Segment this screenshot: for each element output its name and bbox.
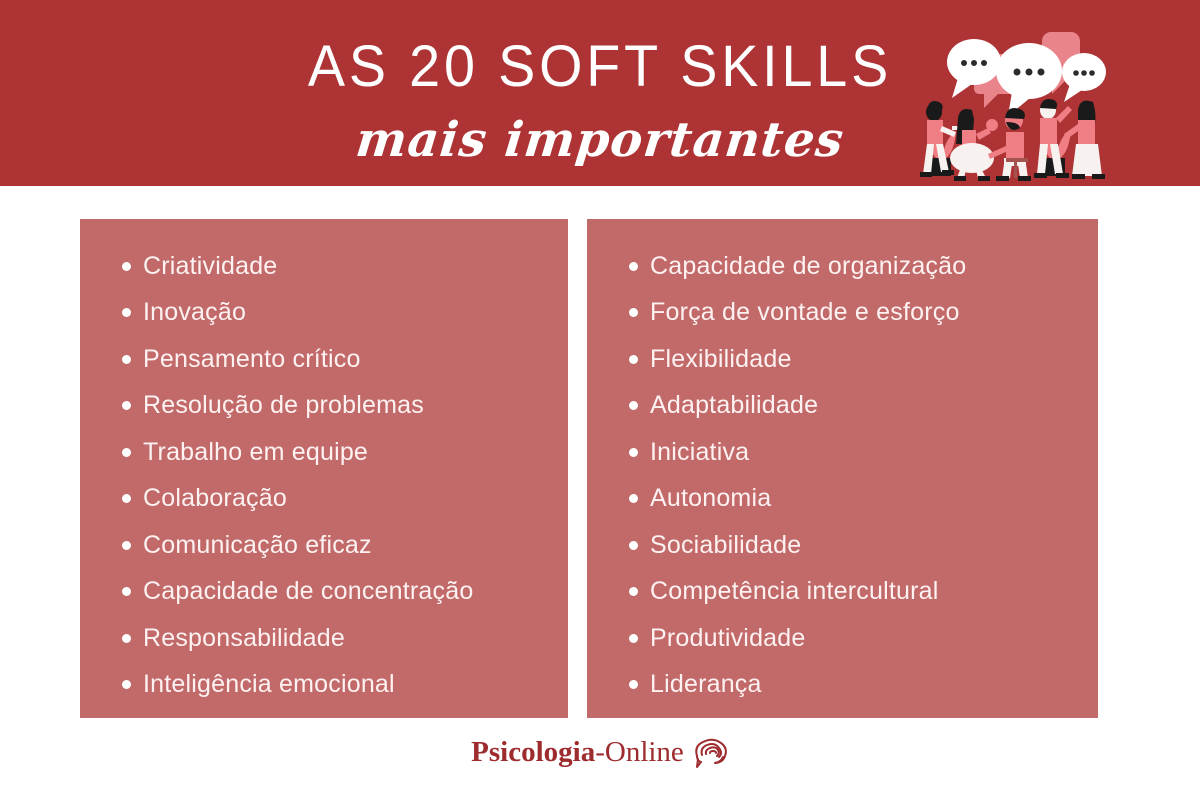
list-item-label: Produtividade	[650, 624, 805, 653]
bullet-icon	[629, 494, 638, 503]
bullet-icon	[629, 634, 638, 643]
list-item: Autonomia	[629, 476, 966, 523]
bullet-icon	[629, 308, 638, 317]
list-item: Capacidade de concentração	[122, 569, 473, 616]
person-figure	[1064, 101, 1105, 179]
list-item: Força de vontade e esforço	[629, 290, 966, 337]
list-item: Capacidade de organização	[629, 243, 966, 290]
list-item: Comunicação eficaz	[122, 522, 473, 569]
brand-logo[interactable]: Psicologia-Online	[471, 736, 729, 774]
header-illustration	[918, 18, 1110, 186]
bullet-icon	[629, 355, 638, 364]
list-item-label: Trabalho em equipe	[143, 438, 368, 467]
skills-list-right: Capacidade de organização Força de vonta…	[629, 243, 966, 708]
list-item: Pensamento crítico	[122, 336, 473, 383]
list-item: Criatividade	[122, 243, 473, 290]
bullet-icon	[629, 262, 638, 271]
bullet-icon	[629, 401, 638, 410]
list-item: Inteligência emocional	[122, 662, 473, 709]
list-item: Competência intercultural	[629, 569, 966, 616]
list-item-label: Força de vontade e esforço	[650, 298, 960, 327]
list-item: Colaboração	[122, 476, 473, 523]
bullet-icon	[122, 634, 131, 643]
list-item-label: Autonomia	[650, 484, 771, 513]
bullet-icon	[629, 587, 638, 596]
list-item: Sociabilidade	[629, 522, 966, 569]
bullet-icon	[629, 680, 638, 689]
brain-icon	[691, 736, 729, 774]
header-banner: AS 20 SOFT SKILLS mais importantes	[0, 0, 1200, 186]
list-item-label: Pensamento crítico	[143, 345, 361, 374]
skills-panel-left: Criatividade Inovação Pensamento crítico…	[80, 219, 568, 718]
list-item-label: Adaptabilidade	[650, 391, 818, 420]
footer: Psicologia-Online	[0, 730, 1200, 780]
list-item: Produtividade	[629, 615, 966, 662]
list-item: Inovação	[122, 290, 473, 337]
list-item-label: Resolução de problemas	[143, 391, 424, 420]
bullet-icon	[122, 355, 131, 364]
list-item: Iniciativa	[629, 429, 966, 476]
bullet-icon	[122, 262, 131, 271]
person-figure	[950, 109, 998, 181]
bullet-icon	[122, 541, 131, 550]
list-item-label: Sociabilidade	[650, 531, 801, 560]
list-item: Adaptabilidade	[629, 383, 966, 430]
list-item-label: Colaboração	[143, 484, 287, 513]
skills-list-left: Criatividade Inovação Pensamento crítico…	[122, 243, 473, 708]
bullet-icon	[629, 541, 638, 550]
list-item-label: Responsabilidade	[143, 624, 345, 653]
list-item: Responsabilidade	[122, 615, 473, 662]
brand-name-bold: Psicologia	[471, 736, 595, 768]
person-figure	[988, 108, 1031, 181]
list-item: Flexibilidade	[629, 336, 966, 383]
bullet-icon	[122, 308, 131, 317]
bullet-icon	[629, 448, 638, 457]
list-item: Trabalho em equipe	[122, 429, 473, 476]
bullet-icon	[122, 448, 131, 457]
list-item: Liderança	[629, 662, 966, 709]
list-item-label: Flexibilidade	[650, 345, 792, 374]
list-item-label: Liderança	[650, 670, 762, 699]
list-item-label: Capacidade de concentração	[143, 577, 473, 606]
list-item-label: Inteligência emocional	[143, 670, 395, 699]
list-item-label: Competência intercultural	[650, 577, 938, 606]
list-item-label: Iniciativa	[650, 438, 749, 467]
bullet-icon	[122, 494, 131, 503]
list-item-label: Criatividade	[143, 252, 277, 281]
list-item: Resolução de problemas	[122, 383, 473, 430]
skills-panel-right: Capacidade de organização Força de vonta…	[587, 219, 1098, 718]
brand-name-light: -Online	[595, 736, 684, 768]
list-item-label: Inovação	[143, 298, 246, 327]
bullet-icon	[122, 680, 131, 689]
bullet-icon	[122, 401, 131, 410]
list-item-label: Comunicação eficaz	[143, 531, 372, 560]
bullet-icon	[122, 587, 131, 596]
list-item-label: Capacidade de organização	[650, 252, 966, 281]
